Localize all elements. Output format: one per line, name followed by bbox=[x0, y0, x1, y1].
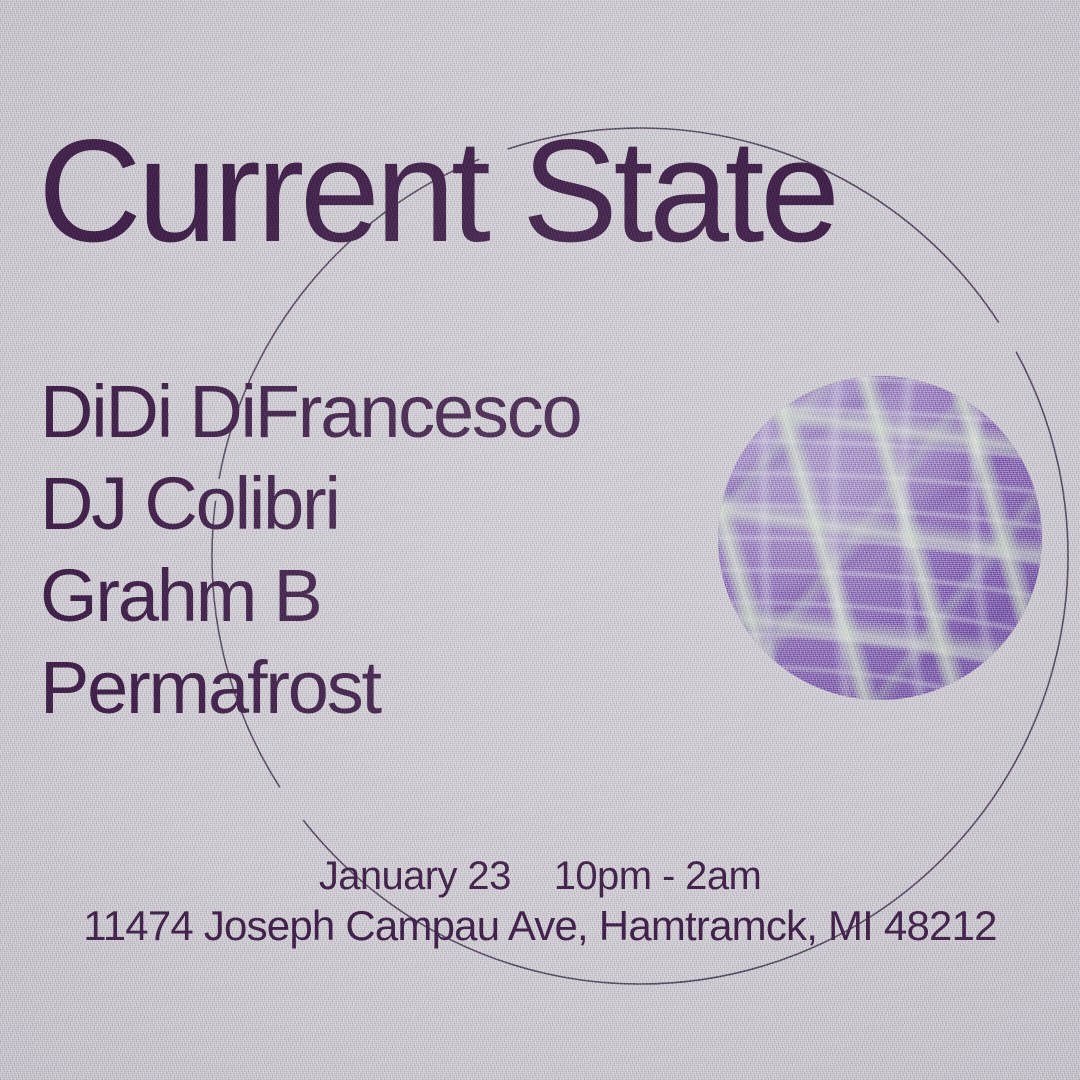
poster-title: Current State bbox=[38, 118, 1023, 264]
lineup-act: Permafrost bbox=[40, 642, 780, 734]
lineup-act: Grahm B bbox=[40, 550, 780, 642]
event-poster: Current State DiDi DiFrancesco DJ Colibr… bbox=[0, 0, 1080, 1080]
event-address: 11474 Joseph Campau Ave, Hamtramck, MI 4… bbox=[0, 900, 1080, 952]
event-time: 10pm - 2am bbox=[554, 854, 761, 898]
event-details: January 23 10pm - 2am 11474 Joseph Campa… bbox=[0, 852, 1080, 952]
event-date: January 23 bbox=[319, 854, 511, 898]
event-datetime: January 23 10pm - 2am bbox=[0, 852, 1080, 900]
lineup-list: DiDi DiFrancesco DJ Colibri Grahm B Perm… bbox=[40, 366, 780, 734]
lineup-act: DiDi DiFrancesco bbox=[40, 366, 780, 458]
lineup-act: DJ Colibri bbox=[40, 458, 780, 550]
